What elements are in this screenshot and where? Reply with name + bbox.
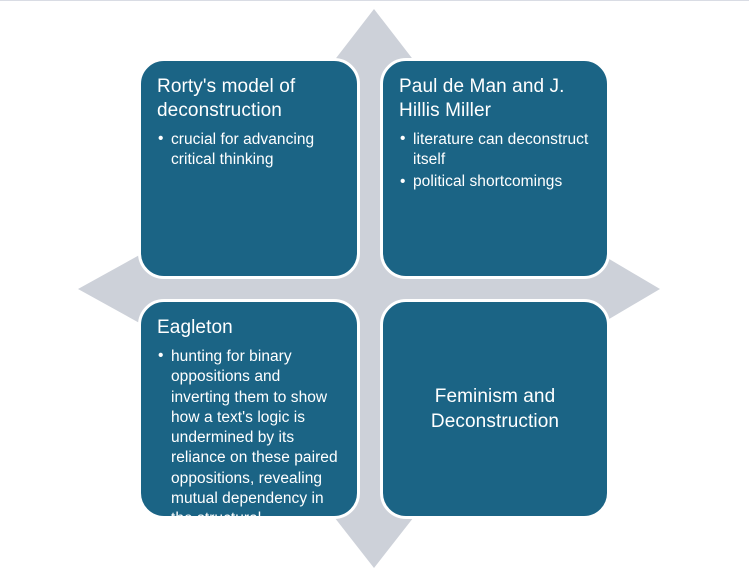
quadrant-bullet-list: hunting for binary oppositions and inver… (157, 347, 341, 552)
quadrant-bullet-list: literature can deconstruct itself politi… (399, 130, 591, 194)
quadrant-bottom-right[interactable]: Feminism and Deconstruction (380, 299, 610, 519)
quadrant-bottom-left[interactable]: Eagleton hunting for binary oppositions … (138, 299, 360, 519)
quadrant-title: Rorty's model of deconstruction (157, 75, 341, 123)
quadrant-top-left[interactable]: Rorty's model of deconstruction crucial … (138, 58, 360, 279)
four-way-arrow-icon (0, 1, 749, 576)
quadrant-title: Eagleton (157, 316, 341, 340)
diagram-canvas: Rorty's model of deconstruction crucial … (0, 0, 749, 576)
quadrant-title: Paul de Man and J. Hillis Miller (399, 75, 591, 123)
list-item: political shortcomings (399, 172, 591, 192)
quadrant-title: Feminism and Deconstruction (403, 384, 587, 434)
list-item: literature can deconstruct itself (399, 130, 591, 170)
quadrant-bullet-list: crucial for advancing critical thinking (157, 130, 341, 172)
quadrant-top-right[interactable]: Paul de Man and J. Hillis Miller literat… (380, 58, 610, 279)
list-item: hunting for binary oppositions and inver… (157, 347, 341, 550)
list-item: crucial for advancing critical thinking (157, 130, 341, 170)
